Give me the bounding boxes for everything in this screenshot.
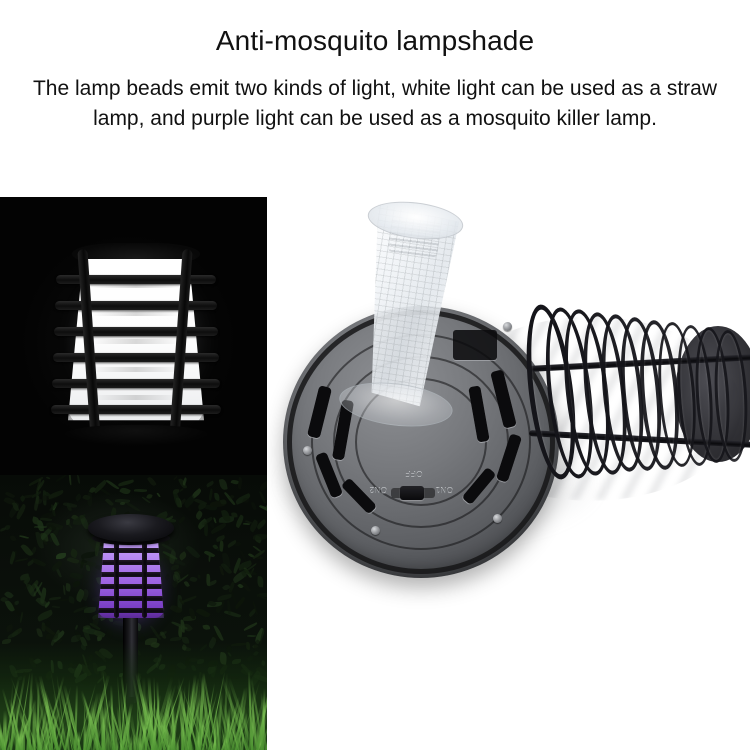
foliage-leaf xyxy=(257,576,263,587)
foliage-leaf xyxy=(156,492,160,498)
product-detail-page: Anti-mosquito lampshade The lamp beads e… xyxy=(0,0,750,750)
cage-bar xyxy=(51,405,221,414)
screw-icon xyxy=(303,446,312,455)
foliage-leaf xyxy=(65,583,71,592)
foliage-leaf xyxy=(31,556,47,568)
foliage-leaf xyxy=(119,486,131,496)
lamp-bottom-cap xyxy=(64,425,208,445)
foliage-leaf xyxy=(37,609,55,621)
foliage-leaf xyxy=(232,512,238,517)
foliage-leaf xyxy=(184,580,190,587)
foliage-leaf xyxy=(20,543,33,557)
foliage-leaf xyxy=(229,494,234,499)
cage-bar xyxy=(54,327,218,336)
foliage-leaf xyxy=(198,574,201,578)
foliage-leaf xyxy=(68,475,71,486)
foliage-leaf xyxy=(224,609,241,619)
foliage-leaf xyxy=(6,631,19,640)
photo-product-base-and-cage: ON2 ON1 OFF xyxy=(267,190,750,640)
foliage-leaf xyxy=(19,534,30,539)
screw-icon xyxy=(371,526,380,535)
lamp-purple-tube xyxy=(98,540,164,618)
foliage-leaf xyxy=(60,599,68,601)
grass-layer xyxy=(0,642,267,750)
cage-bar xyxy=(52,379,220,388)
foliage-leaf xyxy=(105,497,114,506)
solar-panel-cap xyxy=(88,514,174,542)
foliage-leaf xyxy=(259,490,266,504)
page-title: Anti-mosquito lampshade xyxy=(0,0,750,58)
page-description: The lamp beads emit two kinds of light, … xyxy=(25,58,725,134)
foliage-leaf xyxy=(118,480,135,487)
foliage-leaf xyxy=(15,558,28,562)
foliage-leaf xyxy=(251,502,256,510)
foliage-leaf xyxy=(0,527,6,532)
foliage-leaf xyxy=(36,498,42,504)
foliage-leaf xyxy=(86,492,93,506)
foliage-leaf xyxy=(216,535,226,542)
foliage-leaf xyxy=(34,525,47,528)
foliage-leaf xyxy=(173,476,178,481)
foliage-leaf xyxy=(237,477,244,490)
screw-icon xyxy=(503,322,512,331)
photo-purple-light-lamp xyxy=(0,475,267,750)
foliage-leaf xyxy=(220,478,229,490)
clear-lamp-core xyxy=(335,202,476,411)
foliage-leaf xyxy=(208,489,214,501)
foliage-leaf xyxy=(177,516,186,524)
foliage-leaf xyxy=(146,493,153,500)
foliage-leaf xyxy=(134,489,147,493)
foliage-leaf xyxy=(186,544,201,560)
foliage-leaf xyxy=(147,476,156,487)
text-block: Anti-mosquito lampshade The lamp beads e… xyxy=(0,0,750,134)
foliage-leaf xyxy=(189,576,198,583)
switch-label-on2: ON2 xyxy=(369,486,387,495)
foliage-leaf xyxy=(258,480,267,491)
foliage-leaf xyxy=(52,605,61,609)
foliage-leaf xyxy=(9,535,16,543)
cage-bar xyxy=(55,301,217,310)
foliage-leaf xyxy=(119,502,125,507)
foliage-leaf xyxy=(214,517,217,523)
wire-cage-shade xyxy=(525,290,750,500)
screw-icon xyxy=(493,514,502,523)
cage-bar xyxy=(53,353,219,362)
foliage-leaf xyxy=(243,622,258,631)
foliage-leaf xyxy=(205,481,214,488)
foliage-leaf xyxy=(68,597,75,605)
switch-label-on1: ON1 xyxy=(435,486,453,495)
foliage-leaf xyxy=(19,611,24,623)
photo-white-light-lamp xyxy=(0,197,267,475)
foliage-leaf xyxy=(220,499,227,505)
foliage-leaf xyxy=(242,497,249,504)
foliage-leaf xyxy=(105,479,118,491)
power-switch[interactable] xyxy=(400,486,424,500)
grass-blade xyxy=(177,741,179,750)
foliage-leaf xyxy=(56,553,66,560)
foliage-leaf xyxy=(214,493,220,501)
foliage-leaf xyxy=(76,475,79,483)
foliage-leaf xyxy=(55,475,67,483)
foliage-leaf xyxy=(195,607,210,620)
foliage-leaf xyxy=(194,509,204,519)
switch-label-off: OFF xyxy=(405,470,423,479)
foliage-leaf xyxy=(45,476,50,480)
foliage-leaf xyxy=(228,600,231,614)
foliage-leaf xyxy=(74,494,82,502)
foliage-leaf xyxy=(203,624,210,630)
